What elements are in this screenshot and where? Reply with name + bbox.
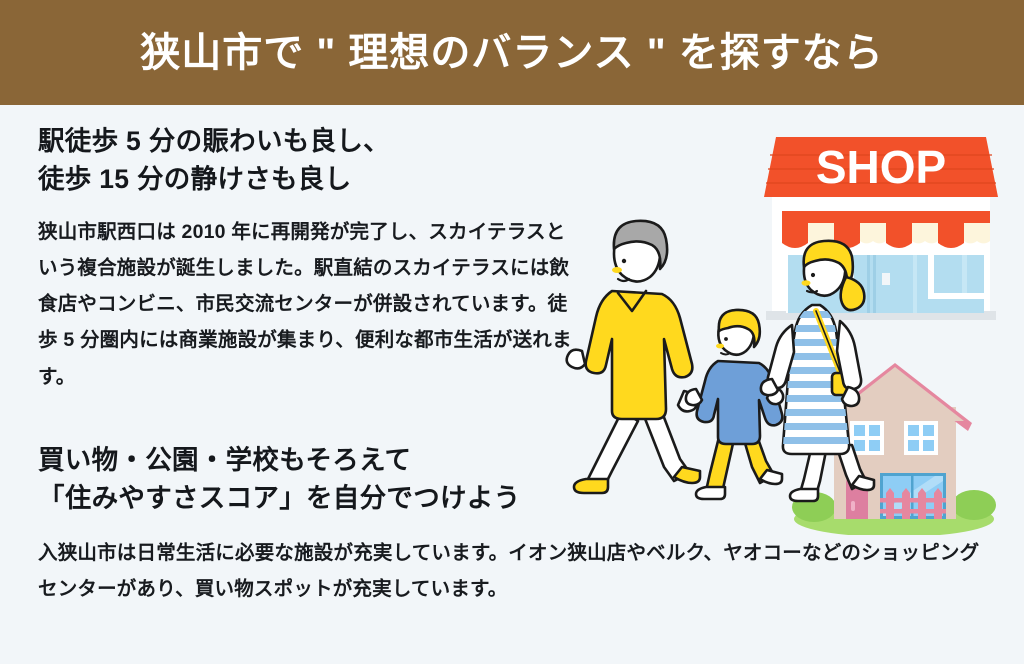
- section-two-heading-line1: 買い物・公園・学校もそろえて: [38, 445, 411, 475]
- section-one: 駅徒歩 5 分の賑わいも良し、 徒歩 15 分の静けさも良し 狭山市駅西口は 2…: [38, 123, 583, 395]
- section-one-heading: 駅徒歩 5 分の賑わいも良し、 徒歩 15 分の静けさも良し: [38, 123, 583, 198]
- section-one-body: 狭山市駅西口は 2010 年に再開発が完了し、スカイテラスという複合施設が誕生し…: [38, 214, 583, 394]
- page-body: 駅徒歩 5 分の賑わいも良し、 徒歩 15 分の静けさも良し 狭山市駅西口は 2…: [0, 105, 1024, 664]
- family-group: [567, 221, 874, 501]
- section-one-heading-line1: 駅徒歩 5 分の賑わいも良し、: [38, 126, 390, 156]
- section-two-body: 入狭山市は日常生活に必要な施設が充実しています。イオン狭山店やベルク、ヤオコーな…: [38, 535, 983, 607]
- header-banner: 狭山市で " 理想のバランス " を探すなら: [0, 0, 1024, 105]
- father-sweater: [586, 291, 693, 419]
- shop-building-icon: SHOP: [764, 137, 998, 320]
- page-title: 狭山市で " 理想のバランス " を探すなら: [140, 33, 884, 73]
- father-figure: [567, 221, 700, 493]
- family-shop-house-illustration: SHOP: [560, 115, 1024, 535]
- section-one-heading-line2: 徒歩 15 分の静けさも良し: [38, 161, 583, 199]
- shop-sign-text: SHOP: [816, 141, 946, 193]
- bush-right: [952, 490, 996, 520]
